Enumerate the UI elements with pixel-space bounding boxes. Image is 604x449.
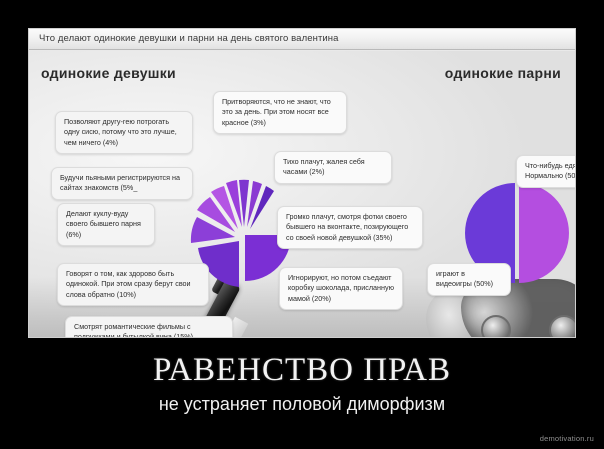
demotivator-poster: Что делают одинокие девушки и парни на д… <box>0 0 604 449</box>
callout-men-videogames-50pct: играют в видеоигры (50%) <box>427 263 511 296</box>
callout-women-3pct: Притворяются, что не знают, что это за д… <box>213 91 347 134</box>
callout-women-2pct: Тихо плачут, жалея себя часами (2%) <box>274 151 392 184</box>
infographic-body: одинокие девушки одинокие парни <box>29 51 575 338</box>
infographic-title: Что делают одинокие девушки и парни на д… <box>39 33 339 44</box>
callout-women-20pct: Игнорируют, но потом съедают коробку шок… <box>279 267 403 310</box>
callout-women-35pct: Громко плачут, смотря фотки своего бывше… <box>277 206 423 249</box>
heading-lonely-women: одинокие девушки <box>41 65 176 81</box>
callout-women-6pct: Делают куклу-вуду своего бывшего парня (… <box>57 203 155 246</box>
infographic-frame: Что делают одинокие девушки и парни на д… <box>28 28 576 338</box>
gamepad-left-stick <box>481 315 511 338</box>
caption-subtitle: не устраняет половой диморфизм <box>0 394 604 415</box>
callout-women-10pct: Говорят о том, как здорово быть одинокой… <box>57 263 209 306</box>
callout-women-15pct: Смотрят романтические фильмы с подружкам… <box>65 316 233 338</box>
heading-lonely-men: одинокие парни <box>445 65 561 81</box>
pie-slice-15 <box>191 217 235 243</box>
callout-women-5pct: Будучи пьяными регистрируются на сайтах … <box>51 167 193 200</box>
caption-main: РАВЕНСТВО ПРАВ <box>0 352 604 389</box>
watermark: demotivation.ru <box>540 434 594 443</box>
pie-slice-men-50-right <box>519 183 569 283</box>
infographic-titlebar: Что делают одинокие девушки и парни на д… <box>29 29 575 50</box>
callout-men-eat-50pct: Что-нибудь едят. Нормально (50%) <box>516 155 575 188</box>
gamepad-right-stick <box>549 315 575 338</box>
callout-women-4pct: Позволяют другу-гею потрогать одну сисю,… <box>55 111 193 154</box>
